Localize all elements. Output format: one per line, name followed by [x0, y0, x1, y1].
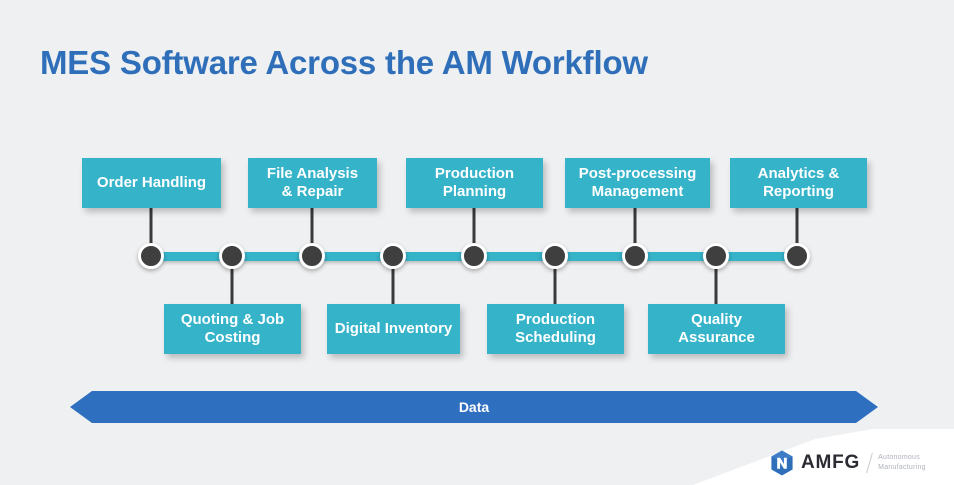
timeline-node-1[interactable]	[138, 243, 164, 269]
step-box-analytics-reporting[interactable]: Analytics & Reporting	[730, 158, 867, 208]
timeline-node-4[interactable]	[380, 243, 406, 269]
slide-canvas: MES Software Across the AM Workflow Orde…	[0, 0, 954, 485]
step-box-label: Quality Assurance	[678, 311, 755, 348]
timeline-node-2[interactable]	[219, 243, 245, 269]
timeline-node-5[interactable]	[461, 243, 487, 269]
timeline-node-7[interactable]	[622, 243, 648, 269]
step-box-production-planning[interactable]: Production Planning	[406, 158, 543, 208]
amfg-tagline: Autonomous Manufacturing	[878, 453, 926, 472]
step-box-post-processing-management[interactable]: Post-processing Management	[565, 158, 710, 208]
data-flow-arrow: Data	[70, 391, 878, 423]
timeline-node-8[interactable]	[703, 243, 729, 269]
step-box-digital-inventory[interactable]: Digital Inventory	[327, 304, 460, 354]
step-box-label: Digital Inventory	[335, 320, 453, 338]
timeline-node-6[interactable]	[542, 243, 568, 269]
logo-divider	[866, 453, 873, 473]
timeline-node-3[interactable]	[299, 243, 325, 269]
step-box-label: Quoting & Job Costing	[181, 311, 284, 348]
timeline-node-9[interactable]	[784, 243, 810, 269]
step-box-label: Production Scheduling	[515, 311, 596, 348]
step-box-label: File Analysis & Repair	[267, 165, 358, 202]
data-flow-arrow-label: Data	[459, 399, 489, 415]
step-box-quality-assurance[interactable]: Quality Assurance	[648, 304, 785, 354]
amfg-logo: AMFG Autonomous Manufacturing	[770, 450, 926, 476]
step-box-quoting-job-costing[interactable]: Quoting & Job Costing	[164, 304, 301, 354]
page-title: MES Software Across the AM Workflow	[40, 44, 648, 82]
step-box-label: Post-processing Management	[579, 165, 697, 202]
step-box-order-handling[interactable]: Order Handling	[82, 158, 221, 208]
step-box-label: Order Handling	[97, 174, 206, 192]
step-box-label: Analytics & Reporting	[758, 165, 840, 202]
step-box-file-analysis-repair[interactable]: File Analysis & Repair	[248, 158, 377, 208]
step-box-production-scheduling[interactable]: Production Scheduling	[487, 304, 624, 354]
amfg-cube-icon	[770, 450, 794, 476]
step-box-label: Production Planning	[435, 165, 514, 202]
amfg-wordmark: AMFG	[801, 452, 860, 474]
